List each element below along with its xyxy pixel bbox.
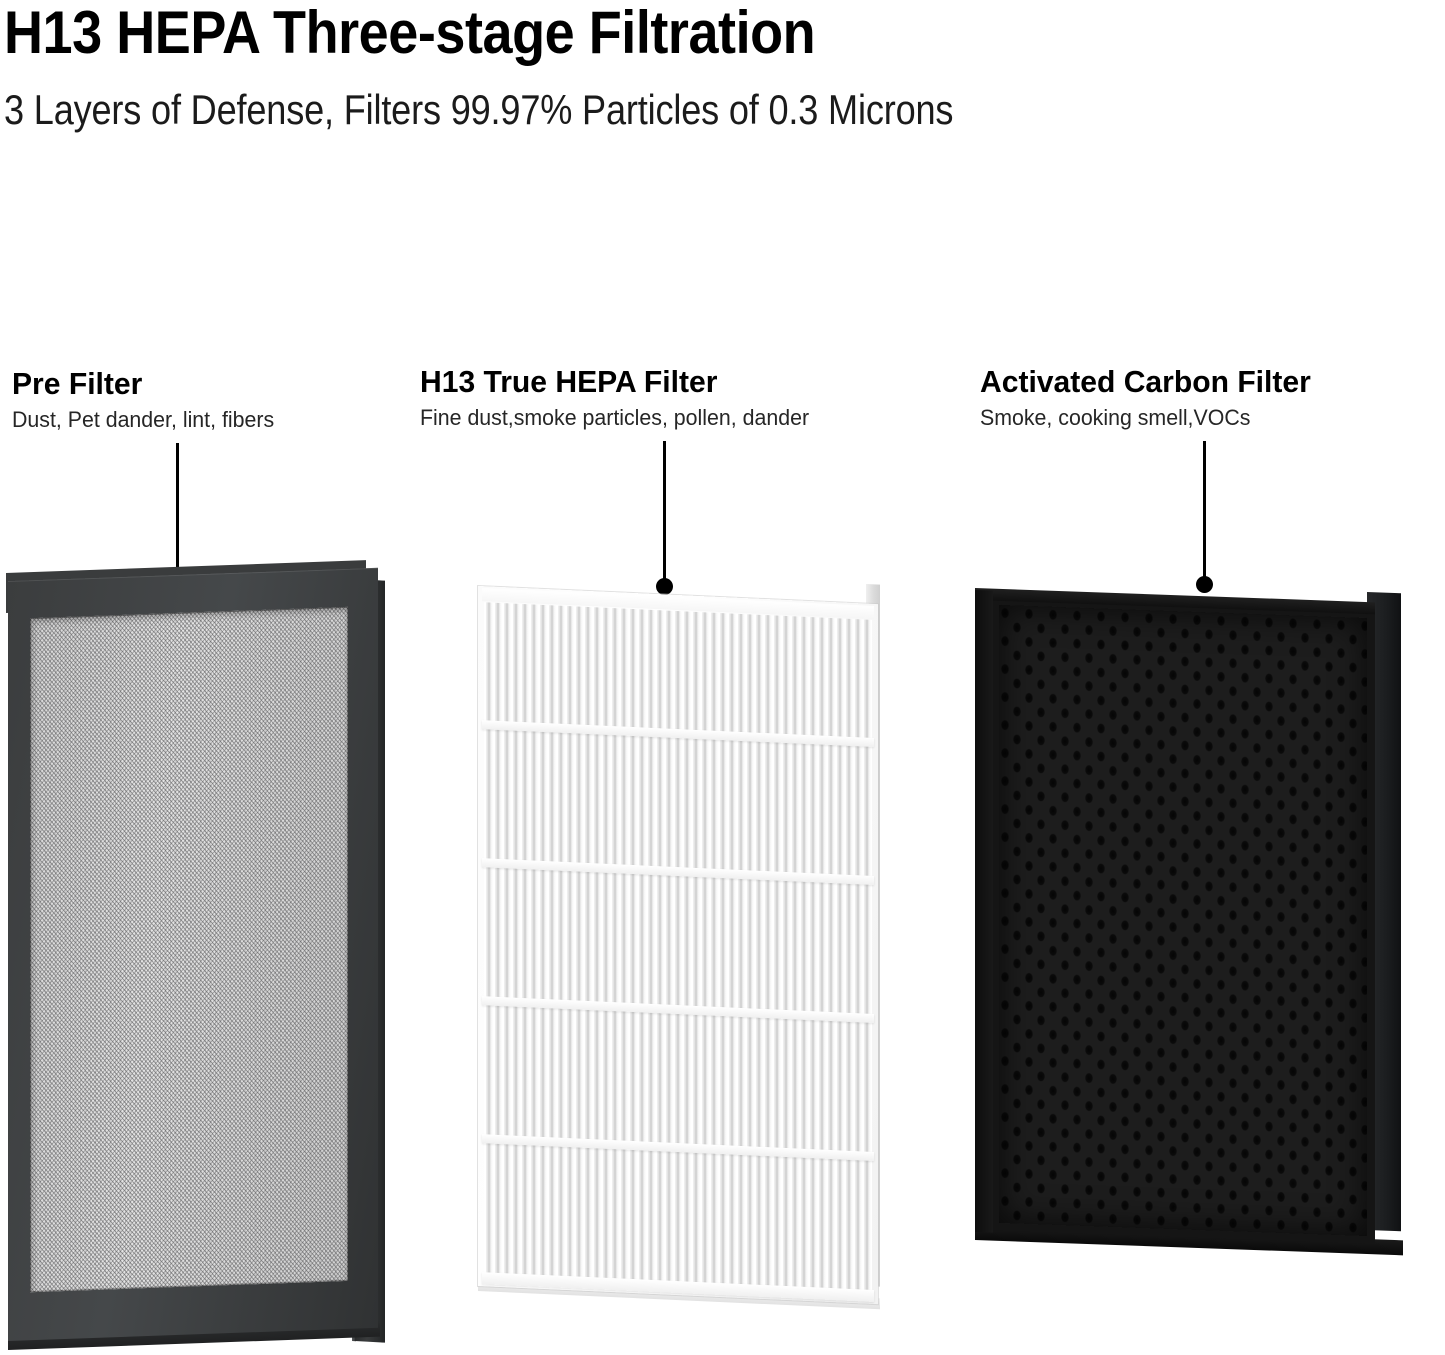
carbon-filter-frame (975, 590, 1375, 1244)
callout-carbon-filter: Activated Carbon Filter Smoke, cooking s… (980, 364, 1321, 431)
pre-filter-frame (8, 568, 378, 1341)
filter-captures-hepa-filter: Fine dust,smoke particles, pollen, dande… (420, 405, 809, 431)
page-subtitle: 3 Layers of Defense, Filters 99.97% Part… (4, 86, 953, 134)
filter-captures-pre-filter: Dust, Pet dander, lint, fibers (12, 407, 274, 433)
page-title: H13 HEPA Three-stage Filtration (4, 0, 815, 67)
callout-pre-filter: Pre Filter Dust, Pet dander, lint, fiber… (12, 366, 282, 433)
filter-panel-hepa-filter (470, 580, 890, 1320)
callout-hepa-filter: H13 True HEPA Filter Fine dust,smoke par… (420, 364, 821, 431)
hepa-filter-frame (478, 586, 878, 1304)
filter-panel-carbon-filter (965, 580, 1415, 1280)
carbon-filter-honeycomb (999, 605, 1367, 1236)
leader-line-pre-filter (176, 443, 179, 575)
pre-filter-mesh (30, 607, 348, 1292)
leader-line-hepa-filter (663, 441, 666, 585)
hepa-filter-pleats (484, 602, 872, 1294)
leader-line-carbon-filter (1203, 441, 1206, 583)
carbon-filter-left-rail (975, 590, 993, 1233)
infographic-canvas: H13 HEPA Three-stage Filtration 3 Layers… (0, 0, 1445, 1354)
filter-panel-pre-filter (0, 565, 400, 1355)
filter-name-pre-filter: Pre Filter (12, 366, 274, 403)
filter-name-carbon-filter: Activated Carbon Filter (980, 364, 1311, 401)
filter-name-hepa-filter: H13 True HEPA Filter (420, 364, 809, 401)
filter-captures-carbon-filter: Smoke, cooking smell,VOCs (980, 405, 1311, 431)
